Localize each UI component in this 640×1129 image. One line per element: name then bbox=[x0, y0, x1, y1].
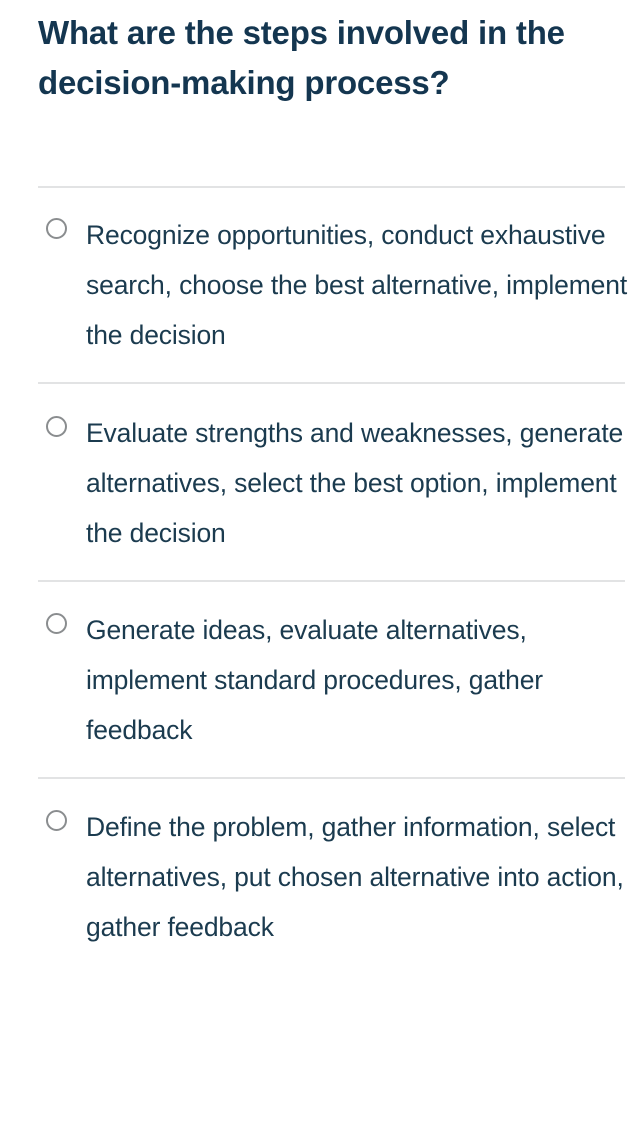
radio-unchecked-icon[interactable] bbox=[46, 810, 67, 831]
answer-option-3[interactable]: Generate ideas, evaluate alternatives, i… bbox=[0, 580, 640, 777]
page-title: What are the steps involved in the decis… bbox=[38, 8, 608, 108]
radio-unchecked-icon[interactable] bbox=[46, 218, 67, 239]
answer-option-2[interactable]: Evaluate strengths and weaknesses, gener… bbox=[0, 382, 640, 580]
answer-option-2-label[interactable]: Evaluate strengths and weaknesses, gener… bbox=[0, 382, 640, 580]
radio-unchecked-icon[interactable] bbox=[46, 416, 67, 437]
radio-unchecked-icon[interactable] bbox=[46, 613, 67, 634]
answer-option-1[interactable]: Recognize opportunities, conduct exhaust… bbox=[0, 186, 640, 382]
answer-option-3-text: Generate ideas, evaluate alternatives, i… bbox=[86, 605, 612, 755]
question-page: What are the steps involved in the decis… bbox=[0, 0, 640, 1129]
answer-option-2-text: Evaluate strengths and weaknesses, gener… bbox=[86, 408, 626, 558]
answer-option-1-text: Recognize opportunities, conduct exhaust… bbox=[86, 210, 628, 360]
answer-option-1-label[interactable]: Recognize opportunities, conduct exhaust… bbox=[0, 186, 640, 382]
answer-option-4[interactable]: Define the problem, gather information, … bbox=[0, 777, 640, 974]
answer-option-4-label[interactable]: Define the problem, gather information, … bbox=[0, 777, 640, 974]
answer-option-3-label[interactable]: Generate ideas, evaluate alternatives, i… bbox=[0, 580, 640, 777]
answer-option-4-text: Define the problem, gather information, … bbox=[86, 802, 630, 952]
answer-options-list: Recognize opportunities, conduct exhaust… bbox=[0, 186, 640, 974]
